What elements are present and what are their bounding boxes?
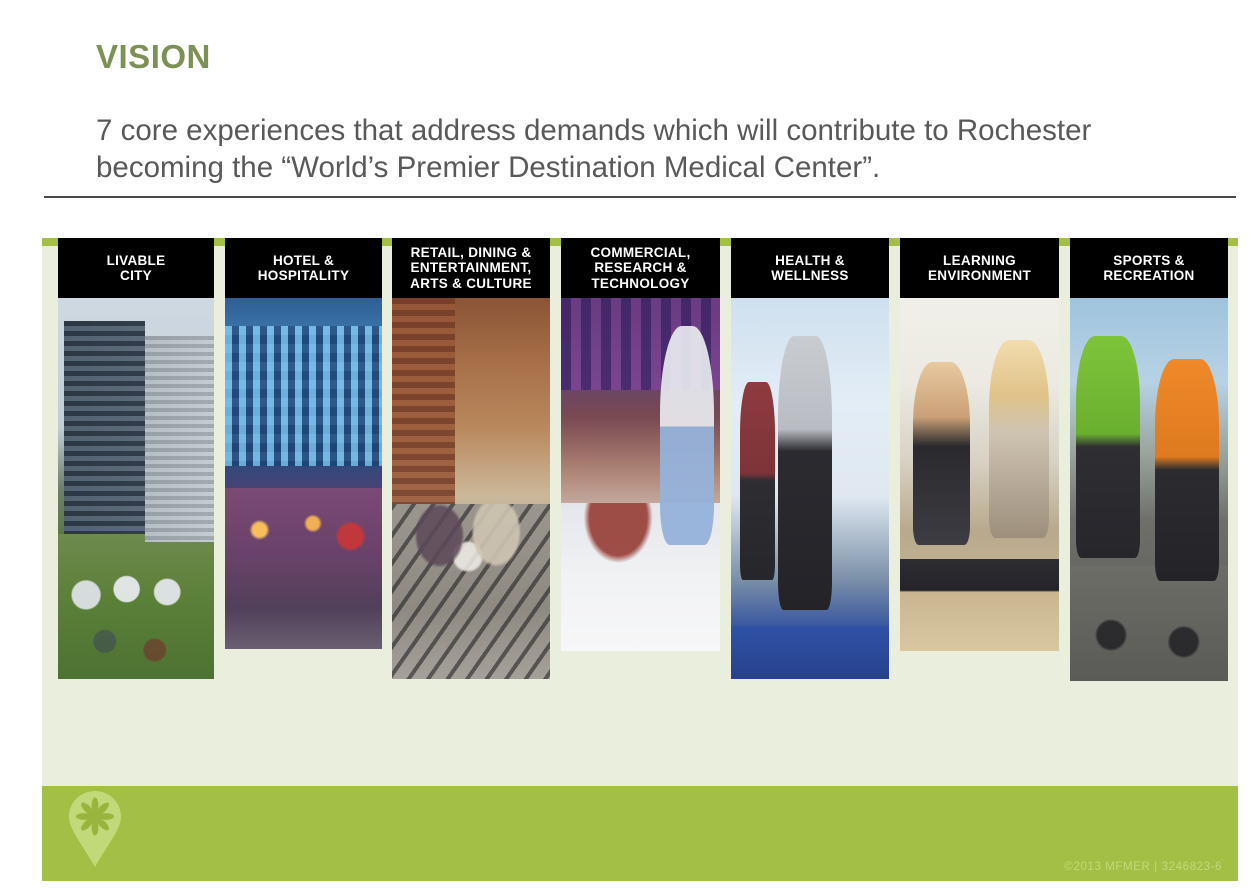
photo-detail-layer [561,503,720,651]
category-column-hotel-hospitality[interactable]: HOTEL & HOSPITALITY [225,238,382,649]
photo-detail-layer [731,626,889,679]
category-header-sports-recreation: SPORTS & RECREATION [1070,238,1228,298]
category-header-learning-environment: LEARNING ENVIRONMENT [900,238,1059,298]
category-column-sports-recreation[interactable]: SPORTS & RECREATION [1070,238,1228,681]
category-header-commercial-research-technology: COMMERCIAL, RESEARCH & TECHNOLOGY [561,238,720,298]
category-header-livable-city: LIVABLE CITY [58,238,214,298]
mayo-clinic-pin-logo [64,789,126,869]
category-column-commercial-research-technology[interactable]: COMMERCIAL, RESEARCH & TECHNOLOGY [561,238,720,651]
category-header-retail-dining-entertainment-arts-culture: RETAIL, DINING & ENTERTAINMENT, ARTS & C… [392,238,550,298]
category-photo-hotel-hospitality [225,298,382,649]
category-photo-livable-city [58,298,214,679]
photo-detail-layer [58,534,214,679]
category-column-livable-city[interactable]: LIVABLE CITY [58,238,214,679]
category-header-health-wellness: HEALTH & WELLNESS [731,238,889,298]
slide-subtitle: 7 core experiences that address demands … [96,112,1226,186]
photo-detail-layer [1070,566,1228,681]
category-photo-sports-recreation [1070,298,1228,681]
copyright-text: ©2013 MFMER | 3246823-6 [1064,861,1222,873]
page-title: VISION [96,38,211,76]
photo-detail-layer [900,559,1059,651]
slide-footer: ©2013 MFMER | 3246823-6 [42,786,1238,881]
category-photo-health-wellness [731,298,889,679]
category-photo-retail-dining-entertainment-arts-culture [392,298,550,679]
title-divider [44,196,1236,198]
category-column-health-wellness[interactable]: HEALTH & WELLNESS [731,238,889,679]
category-column-retail-dining-entertainment-arts-culture[interactable]: RETAIL, DINING & ENTERTAINMENT, ARTS & C… [392,238,550,679]
category-column-learning-environment[interactable]: LEARNING ENVIRONMENT [900,238,1059,651]
category-photo-learning-environment [900,298,1059,651]
category-photo-commercial-research-technology [561,298,720,651]
categories-panel: LIVABLE CITYHOTEL & HOSPITALITYRETAIL, D… [42,238,1238,786]
category-header-hotel-hospitality: HOTEL & HOSPITALITY [225,238,382,298]
